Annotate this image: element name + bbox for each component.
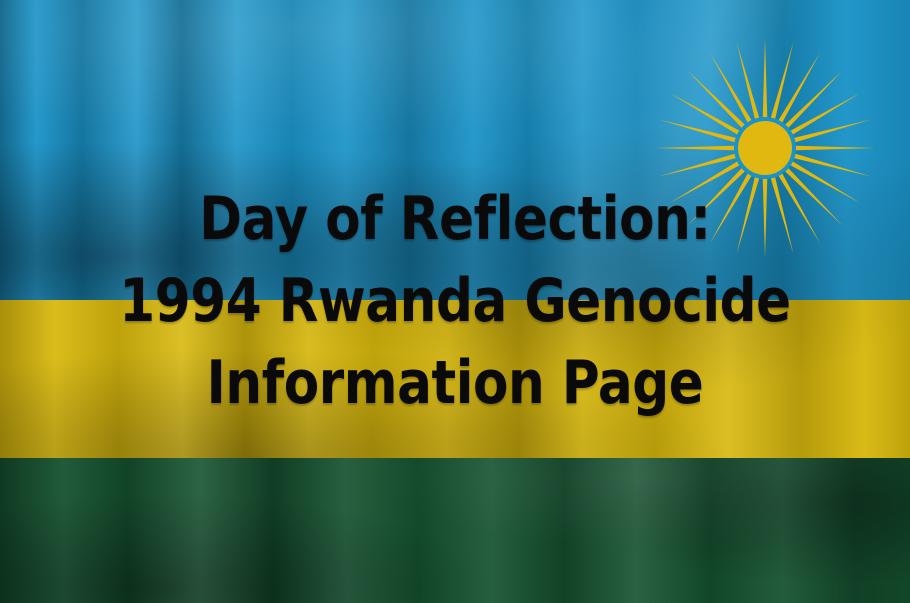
sun-disc [738,121,792,175]
page-title-line-2: 1994 Rwanda Genocide [64,260,847,342]
flag-banner-graphic: Day of Reflection: 1994 Rwanda Genocide … [0,0,910,603]
sun-ray [796,146,875,151]
fabric-fold-shading-green [0,458,910,603]
page-title: Day of Reflection: 1994 Rwanda Genocide … [64,178,847,424]
page-title-line-3: Information Page [64,342,847,424]
page-title-line-1: Day of Reflection: [64,178,847,260]
sun-ray [763,38,768,117]
flag-band-green [0,458,910,603]
sun-ray [655,146,734,151]
